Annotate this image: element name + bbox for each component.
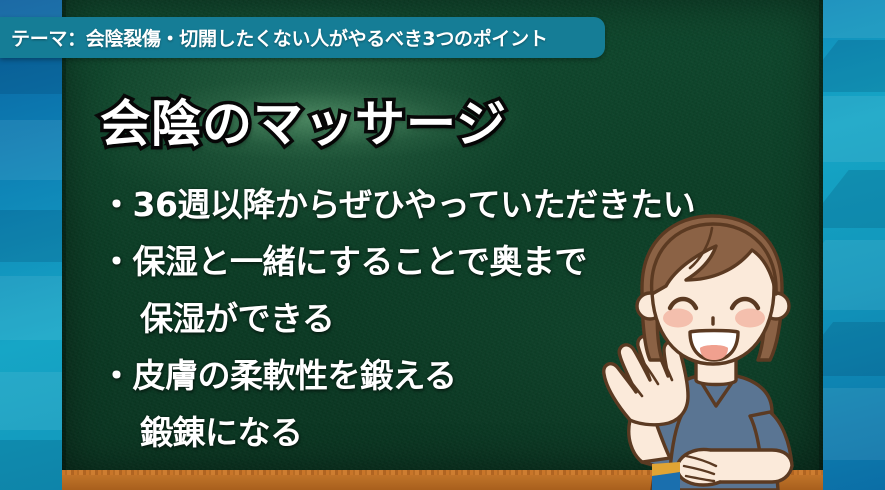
bullet-line-2-continuation: 保湿ができる xyxy=(100,290,800,347)
chalkboard-left-edge xyxy=(62,0,66,474)
bullet-line-1: ・36週以降からぜひやっていただきたい xyxy=(100,176,800,233)
topic-banner: テーマ：会陰裂傷・切開したくない人がやるべき3つのポイント xyxy=(0,17,605,58)
chalkboard-ledge xyxy=(62,470,823,490)
bullet-line-3-continuation: 鍛錬になる xyxy=(100,404,800,461)
slide-canvas: テーマ：会陰裂傷・切開したくない人がやるべき3つのポイント 会陰のマッサージ ・… xyxy=(0,0,885,490)
bullet-list: ・36週以降からぜひやっていただきたい ・保湿と一緒にすることで奥まで 保湿がで… xyxy=(100,176,800,461)
bullet-line-3: ・皮膚の柔軟性を鍛える xyxy=(100,347,800,404)
page-title: 会陰のマッサージ xyxy=(100,84,507,156)
bullet-line-2: ・保湿と一緒にすることで奥まで xyxy=(100,233,800,290)
topic-banner-label: テーマ：会陰裂傷・切開したくない人がやるべき3つのポイント xyxy=(0,24,548,51)
chalkboard-right-edge xyxy=(819,0,823,474)
